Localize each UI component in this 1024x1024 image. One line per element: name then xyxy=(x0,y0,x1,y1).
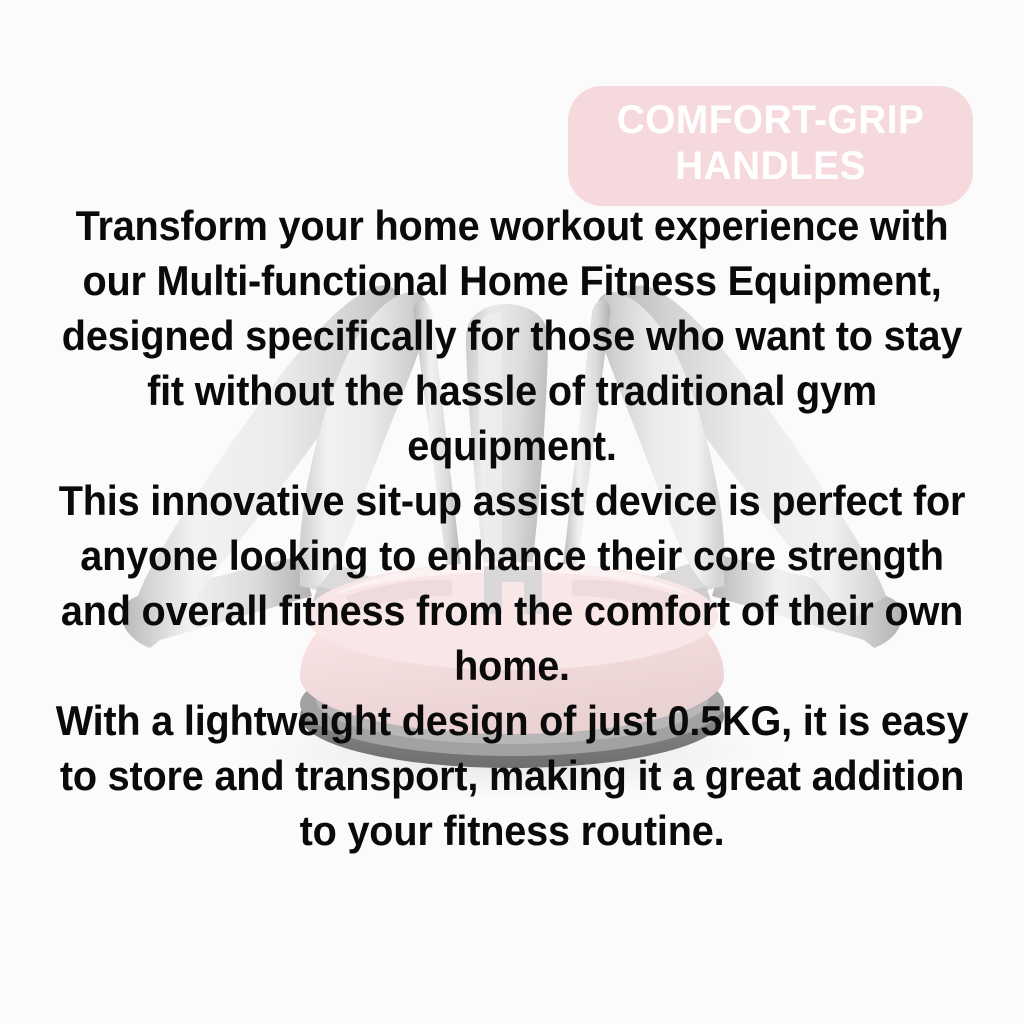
description-line: and overall fitness from the comfort of … xyxy=(23,583,1001,638)
description-line: This innovative sit-up assist device is … xyxy=(23,473,1001,528)
description-line: With a lightweight design of just 0.5KG,… xyxy=(23,693,1001,748)
description-line: to store and transport, making it a grea… xyxy=(23,748,1001,803)
description-paragraph: With a lightweight design of just 0.5KG,… xyxy=(0,693,1024,858)
description-line: fit without the hassle of traditional gy… xyxy=(23,363,1001,418)
description-line: home. xyxy=(23,638,1001,693)
description-line: to your fitness routine. xyxy=(23,803,1001,858)
description-line: Transform your home workout experience w… xyxy=(23,198,1001,253)
product-description-text: Transform your home workout experience w… xyxy=(0,198,1024,858)
comfort-grip-handles-badge: COMFORT-GRIP HANDLES xyxy=(568,86,973,206)
description-line: equipment. xyxy=(23,418,1001,473)
badge-label: COMFORT-GRIP HANDLES xyxy=(617,98,925,189)
product-description-graphic: COMFORT-GRIP HANDLES Transform your home… xyxy=(0,0,1024,1024)
description-line: anyone looking to enhance their core str… xyxy=(23,528,1001,583)
description-paragraph: Transform your home workout experience w… xyxy=(0,198,1024,473)
description-paragraph: This innovative sit-up assist device is … xyxy=(0,473,1024,693)
description-line: designed specifically for those who want… xyxy=(23,308,1001,363)
description-line: our Multi-functional Home Fitness Equipm… xyxy=(23,253,1001,308)
